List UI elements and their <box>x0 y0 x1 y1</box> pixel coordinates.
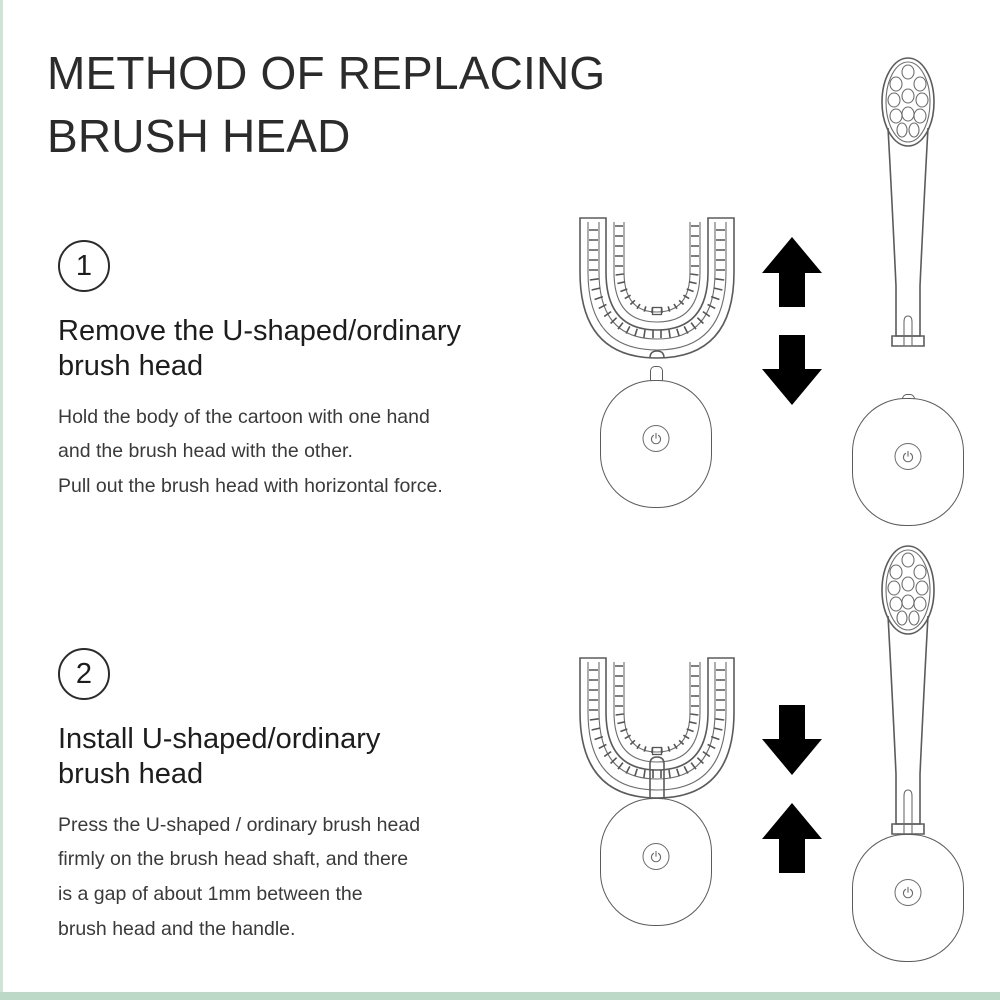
step-1-number: 1 <box>76 252 92 281</box>
step-2-ordinary-device <box>848 538 978 978</box>
left-edge-accent-band <box>0 0 3 1000</box>
step-2-text-column: 2 Install U-shaped/ordinary brush head P… <box>58 648 578 946</box>
step-1-ordinary-device <box>848 50 978 510</box>
bottom-edge-accent-band <box>0 992 1000 1000</box>
step-2-body-line-2: firmly on the brush head shaft, and ther… <box>58 842 578 877</box>
page-title-line-2: BRUSH HEAD <box>47 105 707 168</box>
step-2-number-badge: 2 <box>58 648 110 700</box>
step-1-body-line-3: Pull out the brush head with horizontal … <box>58 469 578 504</box>
toothbrush-handle-body <box>600 380 712 508</box>
instruction-sheet: METHOD OF REPLACING BRUSH HEAD 1 Remove … <box>0 0 1000 1000</box>
arrow-down-icon <box>760 703 824 777</box>
step-1: 1 Remove the U-shaped/ordinary brush hea… <box>0 240 1000 540</box>
step-1-body-line-2: and the brush head with the other. <box>58 434 578 469</box>
step-1-body: Hold the body of the cartoon with one ha… <box>58 400 578 504</box>
toothbrush-handle-body <box>600 798 712 926</box>
step-2-number: 2 <box>76 660 92 689</box>
step-1-heading-line-2: brush head <box>58 349 558 384</box>
page-title: METHOD OF REPLACING BRUSH HEAD <box>47 42 707 169</box>
step-2-heading-line-1: Install U-shaped/ordinary <box>58 722 558 757</box>
arrow-up-icon <box>760 235 824 309</box>
ordinary-bristle-head <box>848 50 968 390</box>
step-1-number-badge: 1 <box>58 240 110 292</box>
step-2-body-line-4: brush head and the handle. <box>58 912 578 947</box>
power-icon <box>650 850 663 863</box>
power-button[interactable] <box>895 879 922 906</box>
power-button[interactable] <box>895 443 922 470</box>
step-2-arrow-group <box>760 703 824 875</box>
step-2-body: Press the U-shaped / ordinary brush head… <box>58 808 578 947</box>
power-icon <box>650 432 663 445</box>
step-1-heading-line-1: Remove the U-shaped/ordinary <box>58 314 558 349</box>
ordinary-bristle-head <box>848 538 968 878</box>
step-1-body-line-1: Hold the body of the cartoon with one ha… <box>58 400 578 435</box>
step-1-u-shaped-device <box>566 208 756 508</box>
toothbrush-handle-body <box>852 398 964 526</box>
step-2: 2 Install U-shaped/ordinary brush head P… <box>0 648 1000 968</box>
power-icon <box>902 886 915 899</box>
step-1-arrow-group <box>760 235 824 407</box>
step-2-heading-line-2: brush head <box>58 757 558 792</box>
step-2-body-line-3: is a gap of about 1mm between the <box>58 877 578 912</box>
arrow-down-icon <box>760 333 824 407</box>
step-2-heading: Install U-shaped/ordinary brush head <box>58 722 558 792</box>
step-2-body-line-1: Press the U-shaped / ordinary brush head <box>58 808 578 843</box>
step-2-u-shaped-device <box>566 648 756 948</box>
step-1-heading: Remove the U-shaped/ordinary brush head <box>58 314 558 384</box>
u-shaped-mouthpiece <box>566 648 748 808</box>
arrow-up-icon <box>760 801 824 875</box>
power-icon <box>902 450 915 463</box>
u-shaped-mouthpiece <box>566 208 748 368</box>
page-title-line-1: METHOD OF REPLACING <box>47 42 707 105</box>
toothbrush-handle-body <box>852 834 964 962</box>
power-button[interactable] <box>643 843 670 870</box>
step-1-text-column: 1 Remove the U-shaped/ordinary brush hea… <box>58 240 578 504</box>
power-button[interactable] <box>643 425 670 452</box>
